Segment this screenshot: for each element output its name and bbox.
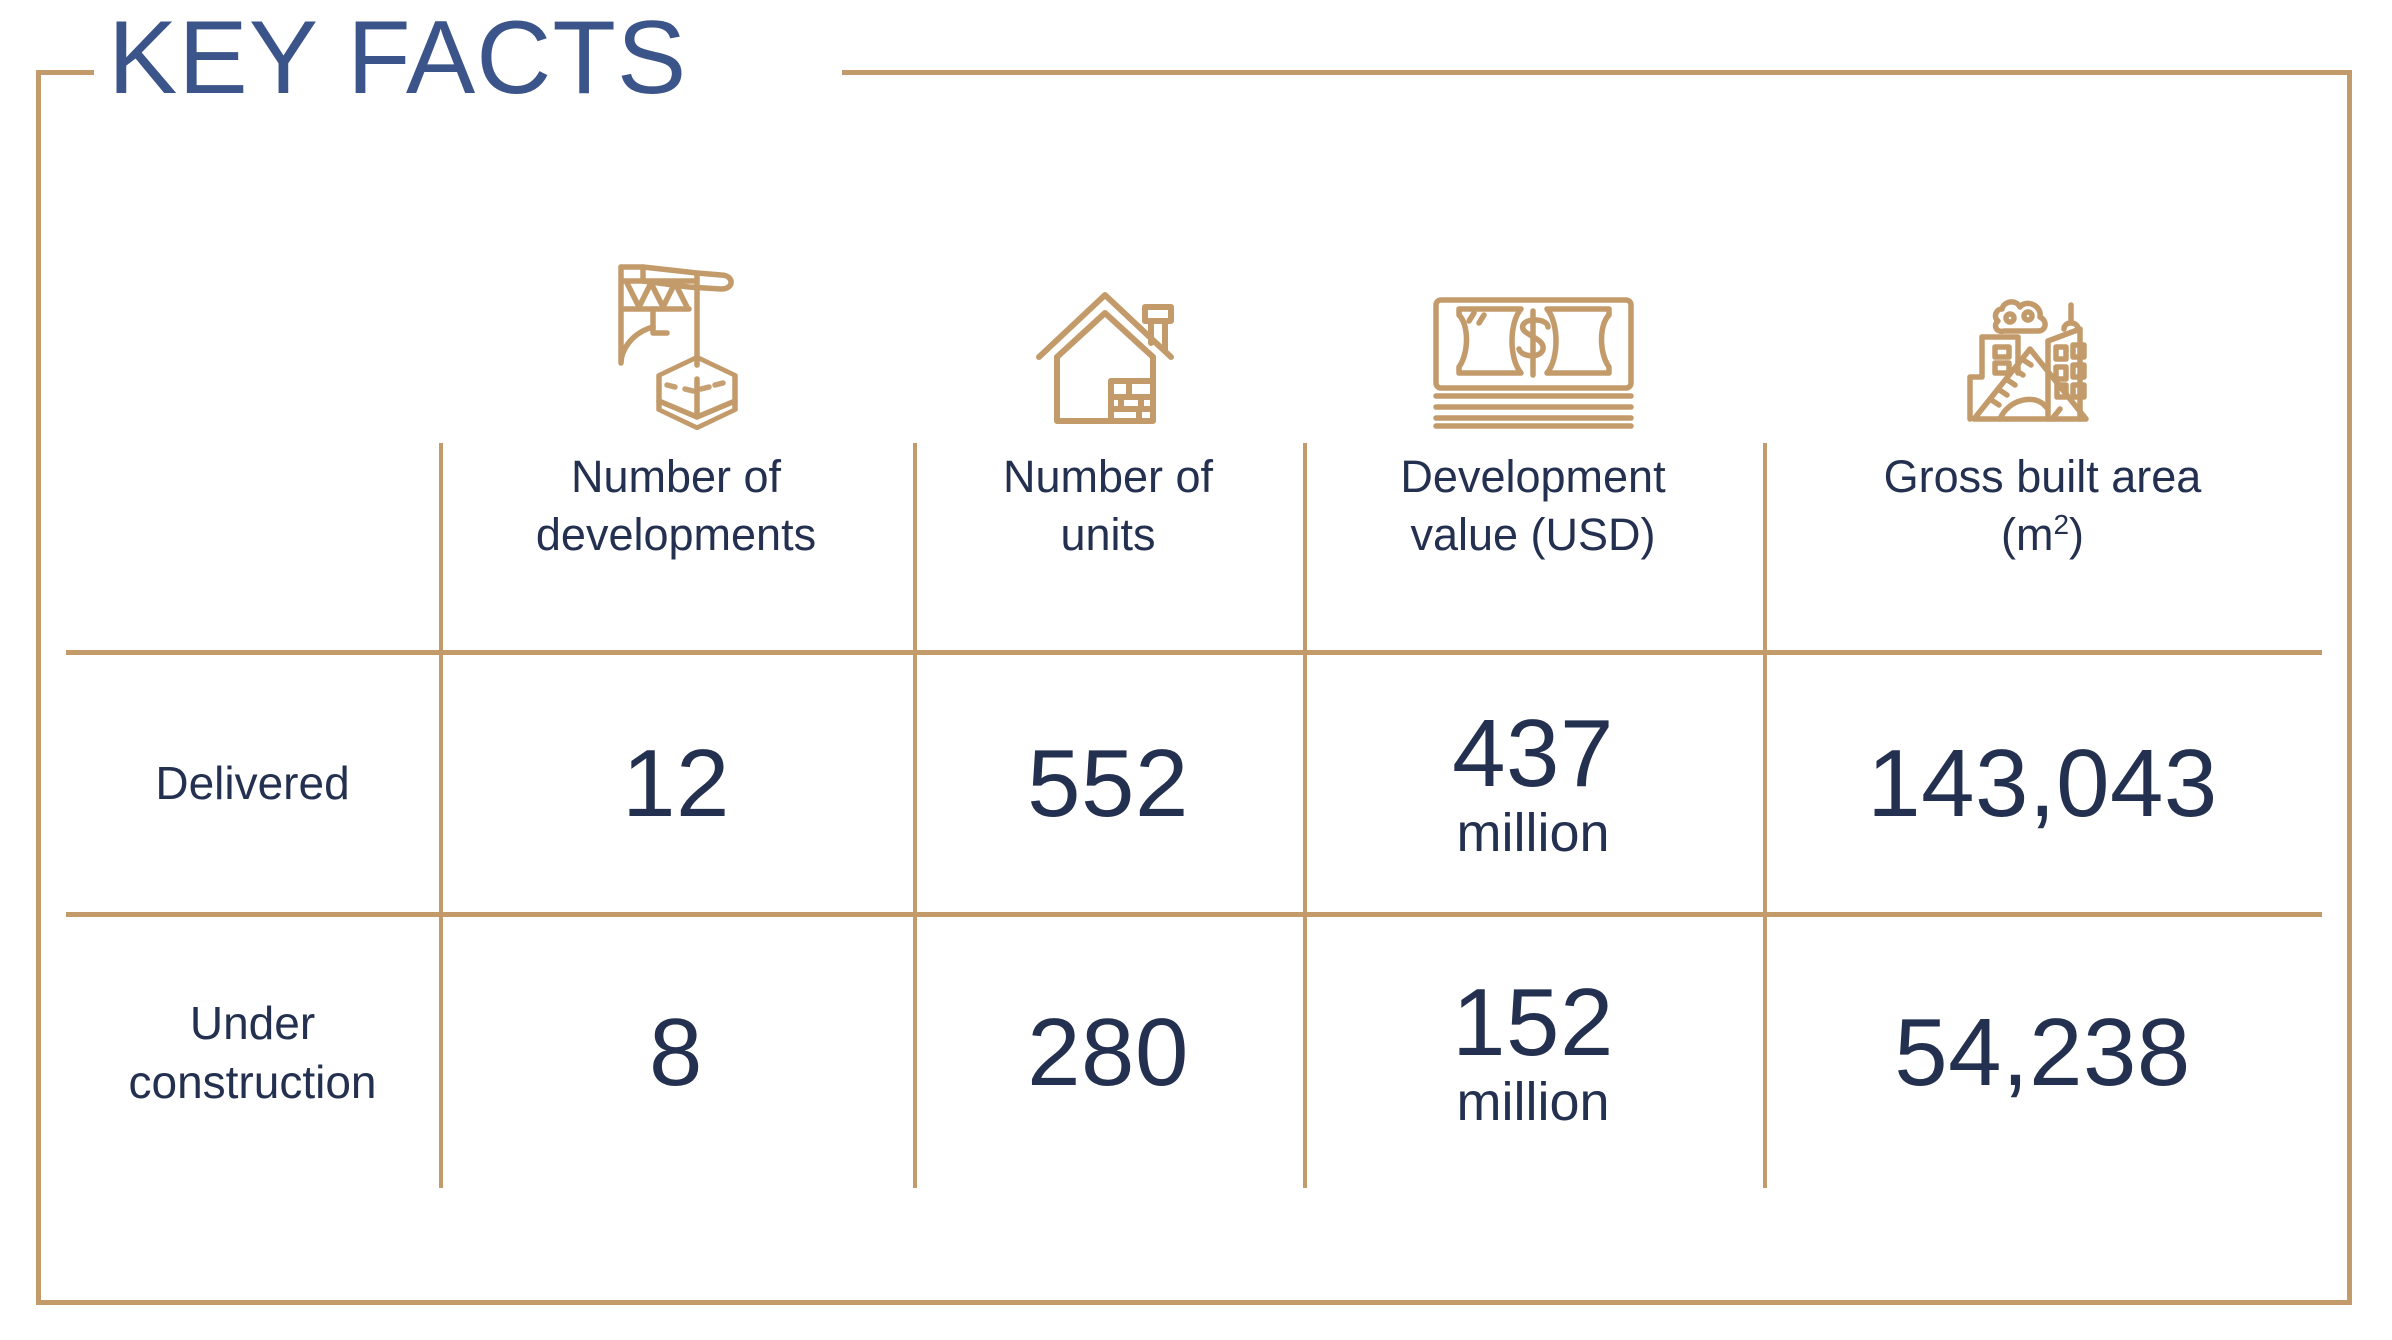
table-row: Delivered 12 552 437 million 143,043 — [66, 655, 2322, 912]
cell-value: 12 — [622, 735, 730, 833]
frame-top-edge-right — [842, 70, 2352, 75]
header-line-2: (m2) — [1777, 506, 2308, 564]
cell-value: 437 — [1452, 705, 1614, 803]
house-icon — [913, 230, 1303, 430]
table-row: Under construction 8 280 152 million 54,… — [66, 917, 2322, 1188]
table-header-row: Number of developments Number of units D… — [66, 448, 2322, 648]
cell-delivered-development-value: 437 million — [1303, 655, 1763, 912]
cell-value: 54,238 — [1894, 1004, 2191, 1102]
cell-under-construction-developments: 8 — [439, 917, 913, 1188]
cell-value-unit: million — [1456, 805, 1609, 862]
row-label-delivered: Delivered — [66, 655, 439, 912]
frame-right-edge — [2347, 70, 2352, 1305]
cell-delivered-developments: 12 — [439, 655, 913, 912]
page-title: KEY FACTS — [108, 6, 687, 110]
cell-value: 8 — [649, 1004, 703, 1102]
column-header-gross-built-area: Gross built area (m2) — [1763, 448, 2322, 563]
crane-lifting-cube-icon — [439, 230, 913, 430]
cell-value: 552 — [1027, 735, 1189, 833]
banknotes-dollar-icon — [1303, 230, 1763, 430]
frame-left-edge — [36, 70, 41, 1305]
cell-delivered-gross-built-area: 143,043 — [1763, 655, 2322, 912]
row-label-under-construction: Under construction — [66, 917, 439, 1188]
header-line-2: units — [927, 506, 1289, 564]
header-line-1: Development — [1317, 448, 1749, 506]
cell-value: 280 — [1027, 1004, 1189, 1102]
cell-under-construction-units: 280 — [913, 917, 1303, 1188]
header-line-1: Number of — [453, 448, 899, 506]
header-unit-suffix: ) — [2069, 509, 2084, 560]
cell-under-construction-gross-built-area: 54,238 — [1763, 917, 2322, 1188]
cityscape-ruler-icon — [1763, 230, 2322, 430]
cell-value: 143,043 — [1867, 735, 2218, 833]
icon-row — [66, 230, 2322, 440]
cell-value-unit: million — [1456, 1074, 1609, 1131]
header-line-2: developments — [453, 506, 899, 564]
header-line-1: Number of — [927, 448, 1289, 506]
header-unit-superscript: 2 — [2053, 509, 2069, 540]
header-line-2: value (USD) — [1317, 506, 1749, 564]
row-label-line-1: Under — [178, 994, 327, 1053]
key-facts-table: Number of developments Number of units D… — [66, 230, 2322, 1190]
column-header-development-value: Development value (USD) — [1303, 448, 1763, 563]
column-header-developments: Number of developments — [439, 448, 913, 563]
row-label-line-2: construction — [116, 1053, 388, 1112]
column-header-units: Number of units — [913, 448, 1303, 563]
header-unit-prefix: (m — [2001, 509, 2053, 560]
cell-delivered-units: 552 — [913, 655, 1303, 912]
cell-under-construction-development-value: 152 million — [1303, 917, 1763, 1188]
cell-value: 152 — [1452, 974, 1614, 1072]
frame-bottom-edge — [36, 1300, 2352, 1305]
header-line-1: Gross built area — [1777, 448, 2308, 506]
row-label-line-1: Delivered — [143, 754, 361, 813]
frame-top-edge-left — [36, 70, 94, 75]
